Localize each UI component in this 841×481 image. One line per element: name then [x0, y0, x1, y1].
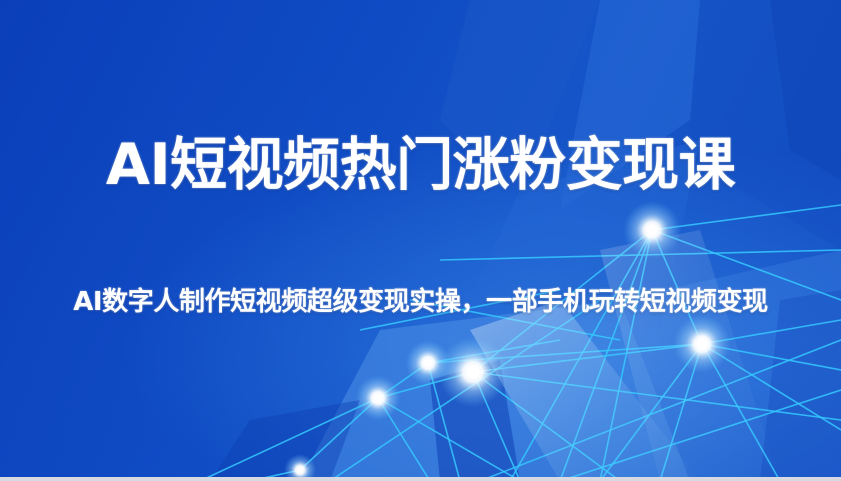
banner-text-block: AI短视频热门涨粉变现课 AI数字人制作短视频超级变现实操，一部手机玩转短视频变…	[0, 0, 841, 481]
banner-subtitle: AI数字人制作短视频超级变现实操，一部手机玩转短视频变现	[0, 286, 841, 318]
banner-title: AI短视频热门涨粉变现课	[0, 131, 841, 199]
course-banner: AI短视频热门涨粉变现课 AI数字人制作短视频超级变现实操，一部手机玩转短视频变…	[0, 0, 841, 481]
